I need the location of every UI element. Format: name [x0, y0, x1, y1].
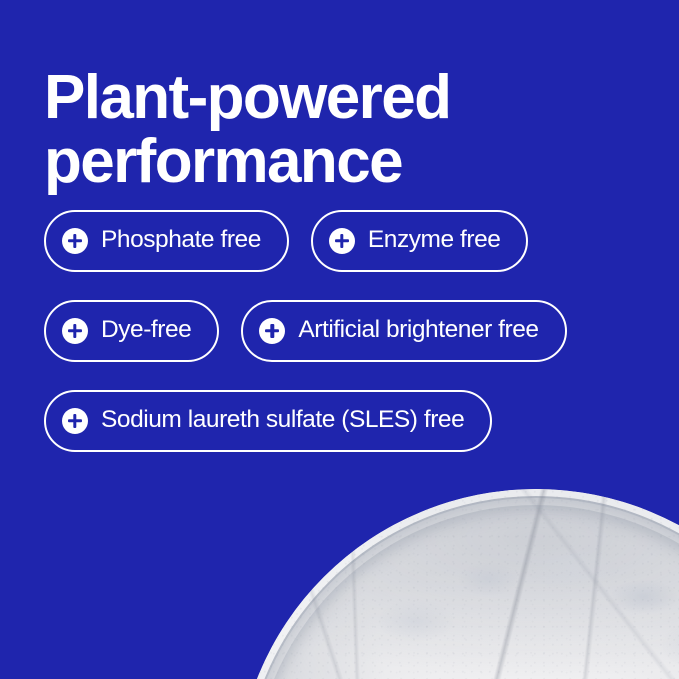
badge-dye-free[interactable]: Dye-free — [44, 300, 219, 362]
badge-phosphate-free[interactable]: Phosphate free — [44, 210, 289, 272]
badge-row: Dye-free Artificial brightener free — [44, 300, 644, 362]
badge-label: Enzyme free — [368, 228, 501, 253]
page-title: Plant-powered performance — [44, 66, 604, 195]
plus-circle-icon — [259, 318, 285, 344]
powder-clumps — [236, 489, 679, 679]
badge-label: Dye-free — [101, 318, 191, 343]
powder-grain — [236, 489, 679, 679]
badge-enzyme-free[interactable]: Enzyme free — [311, 210, 529, 272]
plus-circle-icon — [62, 408, 88, 434]
product-feature-panel: Plant-powered performance Phosphate free… — [0, 0, 679, 679]
badge-label: Artificial brightener free — [298, 318, 538, 343]
feature-badge-list: Phosphate free Enzyme free Dye-free Arti… — [44, 210, 644, 480]
badge-row: Sodium laureth sulfate (SLES) free — [44, 390, 644, 452]
badge-label: Phosphate free — [101, 228, 261, 253]
badge-artificial-brightener-free[interactable]: Artificial brightener free — [241, 300, 566, 362]
powder-shading — [236, 489, 679, 679]
plus-circle-icon — [329, 228, 355, 254]
plus-circle-icon — [62, 228, 88, 254]
badge-sles-free[interactable]: Sodium laureth sulfate (SLES) free — [44, 390, 492, 452]
badge-label: Sodium laureth sulfate (SLES) free — [101, 408, 464, 433]
plus-circle-icon — [62, 318, 88, 344]
white-powder-dish-photo — [236, 489, 679, 679]
powder-cracks — [236, 489, 679, 679]
badge-row: Phosphate free Enzyme free — [44, 210, 644, 272]
